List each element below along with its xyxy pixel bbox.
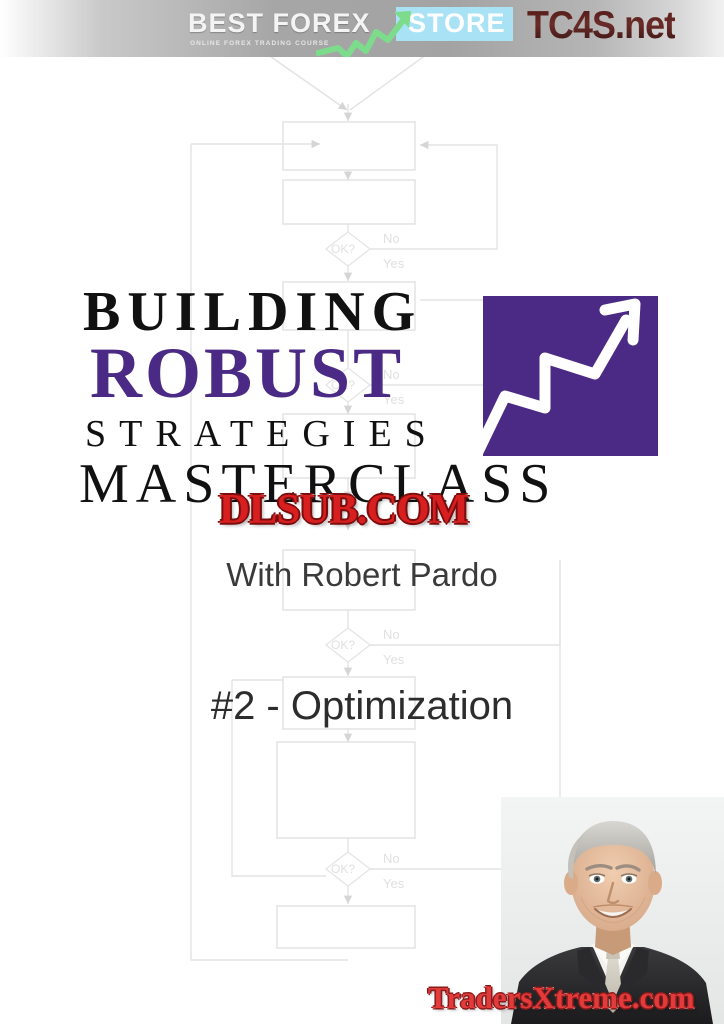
branch-no-4: No	[383, 851, 400, 866]
presenter-subtitle: With Robert Pardo	[0, 556, 724, 594]
branch-no-3: No	[383, 627, 400, 642]
watermark-dlsub: DLSUB.COM	[219, 486, 468, 534]
chart-arrow-icon	[316, 10, 431, 57]
upward-trend-arrow-icon	[483, 296, 658, 456]
growth-chart-logo	[483, 296, 658, 456]
decision-label-4: OK?	[331, 862, 355, 876]
branch-yes-3: Yes	[383, 652, 405, 667]
title-line-strategies: STRATEGIES	[85, 414, 439, 454]
site-logo: TC4S.net	[527, 3, 675, 49]
watermark-tradersxtreme: TradersXtreme.com	[428, 980, 695, 1016]
branch-yes-4: Yes	[383, 876, 405, 891]
best-forex-store-logo: BEST FOREX STORE ONLINE FOREX TRADING CO…	[188, 8, 518, 53]
brand-tagline: ONLINE FOREX TRADING COURSE	[190, 40, 329, 47]
branch-no-1: No	[383, 231, 400, 246]
header-banner: BEST FOREX STORE ONLINE FOREX TRADING CO…	[0, 0, 724, 57]
decision-label-3: OK?	[331, 638, 355, 652]
module-subtitle: #2 - Optimization	[0, 684, 724, 729]
branch-yes-1: Yes	[383, 256, 405, 271]
title-line-robust: ROBUST	[90, 336, 404, 410]
decision-label-1: OK?	[331, 242, 355, 256]
